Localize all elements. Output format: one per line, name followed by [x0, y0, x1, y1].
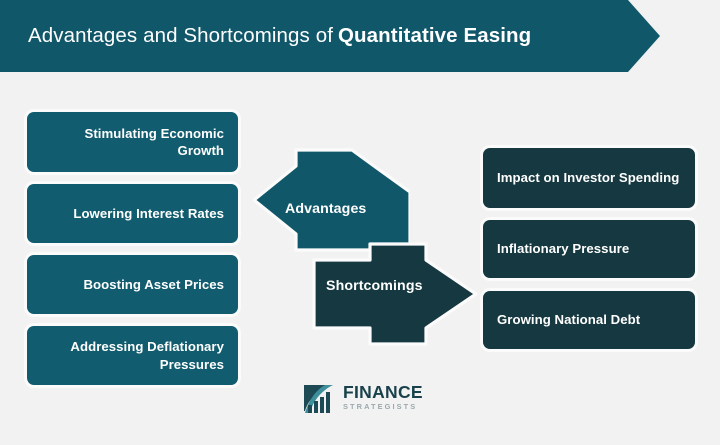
shortcoming-item-1[interactable]: Impact on Investor Spending: [483, 148, 695, 208]
advantage-item-4[interactable]: Addressing Deflationary Pressures: [27, 326, 238, 385]
shortcomings-arrow[interactable]: Shortcomings: [312, 242, 478, 346]
advantage-item-1-label: Stimulating Economic Growth: [39, 125, 224, 160]
logo-subtitle: STRATEGISTS: [343, 403, 423, 410]
finance-strategists-logo-icon: [303, 381, 339, 414]
page-title-regular: Advantages and Shortcomings of: [28, 24, 333, 48]
advantage-item-1[interactable]: Stimulating Economic Growth: [27, 112, 238, 172]
shortcoming-item-3[interactable]: Growing National Debt: [483, 291, 695, 349]
page-title: Advantages and Shortcomings of Quantitat…: [28, 0, 531, 72]
advantages-arrow[interactable]: Advantages: [252, 148, 410, 252]
logo-name: FINANCE: [343, 384, 423, 402]
advantage-item-3-label: Boosting Asset Prices: [83, 276, 224, 293]
advantage-item-3[interactable]: Boosting Asset Prices: [27, 255, 238, 314]
shortcomings-arrow-label: Shortcomings: [326, 278, 423, 294]
advantage-item-4-label: Addressing Deflationary Pressures: [39, 338, 224, 373]
shortcoming-item-3-label: Growing National Debt: [497, 311, 640, 328]
advantage-item-2[interactable]: Lowering Interest Rates: [27, 184, 238, 243]
advantages-arrow-label: Advantages: [285, 201, 366, 217]
arrow-right-icon: [312, 242, 478, 346]
shortcoming-item-2-label: Inflationary Pressure: [497, 240, 629, 257]
page-title-emphasis: Quantitative Easing: [338, 24, 531, 48]
brand-logo: FINANCE STRATEGISTS: [303, 378, 428, 416]
logo-wordmark: FINANCE STRATEGISTS: [343, 384, 423, 411]
advantage-item-2-label: Lowering Interest Rates: [73, 205, 224, 222]
arrow-left-icon: [252, 148, 410, 252]
infographic-canvas: Advantages and Shortcomings of Quantitat…: [0, 0, 720, 445]
shortcoming-item-2[interactable]: Inflationary Pressure: [483, 220, 695, 278]
header: Advantages and Shortcomings of Quantitat…: [0, 0, 660, 72]
shortcoming-item-1-label: Impact on Investor Spending: [497, 169, 679, 186]
